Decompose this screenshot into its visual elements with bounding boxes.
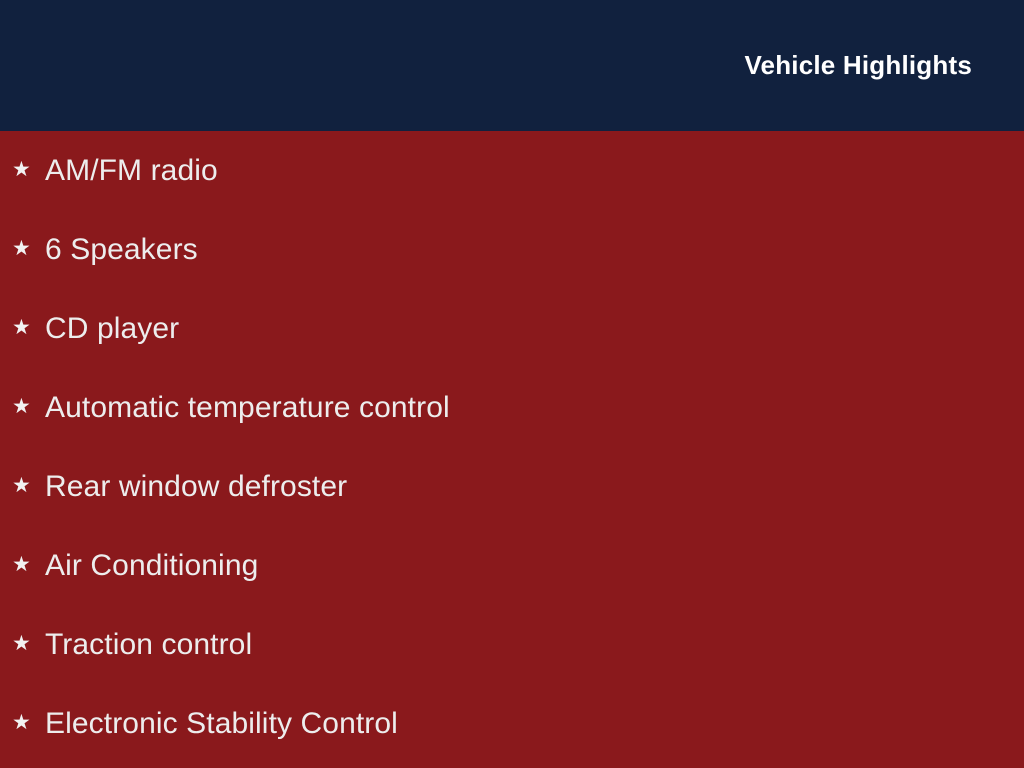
star-bullet-icon: ★ <box>12 396 45 417</box>
star-bullet-icon: ★ <box>12 238 45 259</box>
star-bullet-icon: ★ <box>12 633 45 654</box>
list-item: ★ AM/FM radio <box>0 131 1024 210</box>
star-bullet-icon: ★ <box>12 159 45 180</box>
slide-header: Vehicle Highlights <box>0 0 1024 131</box>
list-item-label: Electronic Stability Control <box>45 707 398 740</box>
list-item: ★ Traction control <box>0 605 1024 684</box>
slide-body: ★ AM/FM radio ★ 6 Speakers ★ CD player ★… <box>0 131 1024 768</box>
list-item: ★ Electronic Stability Control <box>0 684 1024 763</box>
star-bullet-icon: ★ <box>12 475 45 496</box>
list-item: ★ Rear window defroster <box>0 447 1024 526</box>
vehicle-highlights-list: ★ AM/FM radio ★ 6 Speakers ★ CD player ★… <box>0 131 1024 763</box>
star-bullet-icon: ★ <box>12 554 45 575</box>
list-item: ★ 6 Speakers <box>0 210 1024 289</box>
page-title: Vehicle Highlights <box>744 52 972 78</box>
list-item: ★ Automatic temperature control <box>0 368 1024 447</box>
list-item-label: CD player <box>45 312 179 345</box>
list-item-label: Rear window defroster <box>45 470 347 503</box>
vehicle-highlights-slide: Vehicle Highlights ★ AM/FM radio ★ 6 Spe… <box>0 0 1024 768</box>
list-item-label: 6 Speakers <box>45 233 198 266</box>
list-item-label: AM/FM radio <box>45 154 218 187</box>
star-bullet-icon: ★ <box>12 712 45 733</box>
list-item-label: Traction control <box>45 628 252 661</box>
list-item-label: Air Conditioning <box>45 549 258 582</box>
list-item: ★ Air Conditioning <box>0 526 1024 605</box>
list-item: ★ CD player <box>0 289 1024 368</box>
star-bullet-icon: ★ <box>12 317 45 338</box>
list-item-label: Automatic temperature control <box>45 391 450 424</box>
